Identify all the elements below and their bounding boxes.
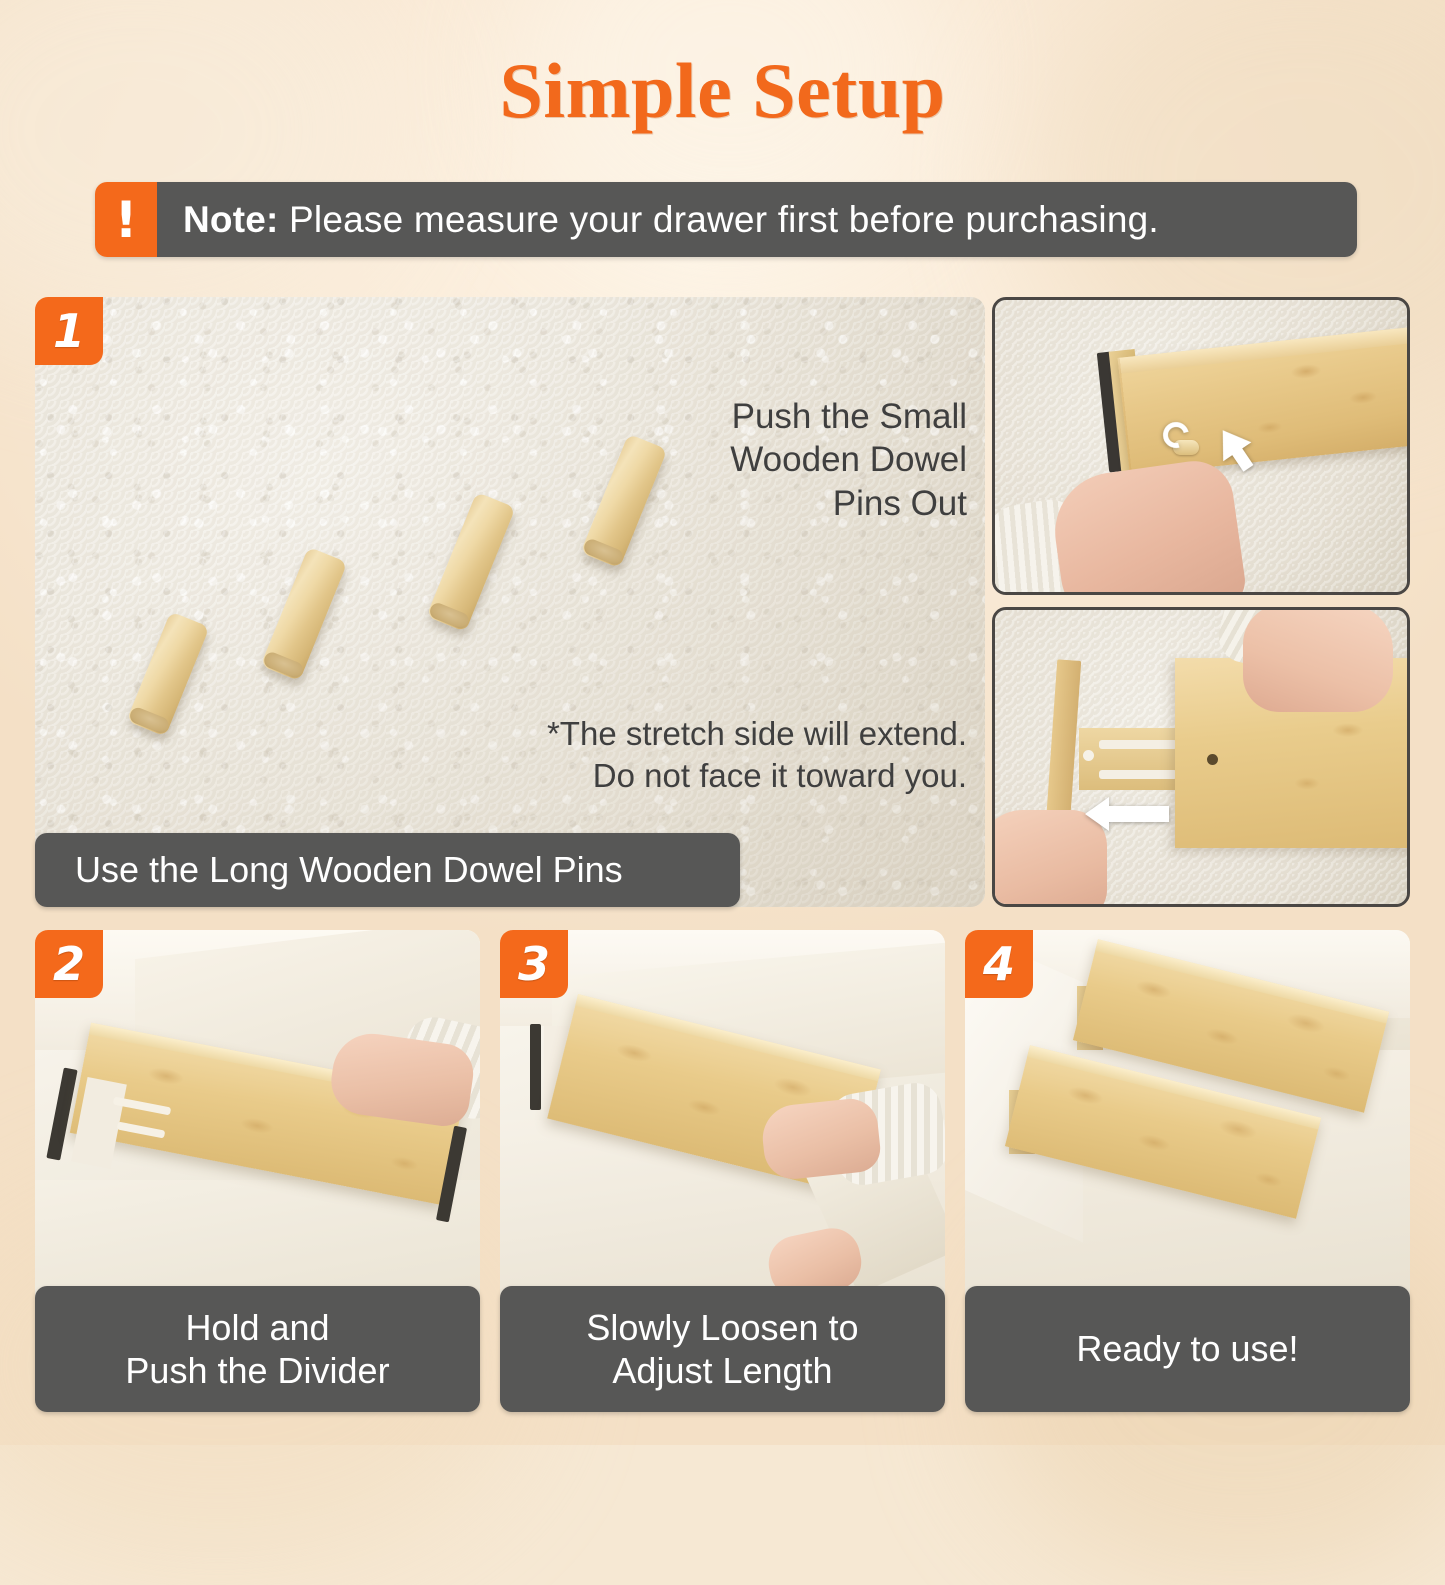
page-title: Simple Setup [0, 46, 1445, 136]
note-label: Note: [183, 199, 279, 240]
caption-line: Push the Divider [125, 1349, 389, 1392]
hand [1243, 607, 1393, 712]
annotation-line: *The stretch side will extend. [497, 713, 967, 755]
step-4-panel: 4 Ready to use! [965, 930, 1410, 1412]
rail-slot [1099, 740, 1177, 749]
note-banner: ! Note: Please measure your drawer first… [95, 182, 1357, 257]
board-hole [1207, 754, 1218, 765]
step-1-photo: Push the Small Wooden Dowel Pins Out *Th… [35, 297, 985, 907]
step-number-badge-3: 3 [500, 930, 568, 998]
rail-slot [1099, 770, 1177, 779]
caption-line: Adjust Length [612, 1349, 832, 1392]
note-message: Please measure your drawer first before … [279, 199, 1159, 240]
step-1-inset-b [992, 607, 1410, 907]
note-banner-body: Note: Please measure your drawer first b… [157, 182, 1357, 257]
exclamation-icon: ! [95, 182, 157, 257]
hand [759, 1096, 882, 1182]
divider-rail [1079, 728, 1189, 790]
annotation-line: Pins Out [547, 482, 967, 525]
step-1-annotation-bottom: *The stretch side will extend. Do not fa… [497, 713, 967, 797]
step-3-panel: 3 Slowly Loosen to Adjust Length [500, 930, 945, 1412]
caption-line: Hold and [185, 1306, 329, 1349]
step-2-panel: 2 Hold and Push the Divider [35, 930, 480, 1412]
left-arrow-icon [1107, 806, 1169, 822]
infographic-page: Simple Setup ! Note: Please measure your… [0, 0, 1445, 1445]
annotation-line: Do not face it toward you. [497, 755, 967, 797]
step-1-annotation-top: Push the Small Wooden Dowel Pins Out [547, 395, 967, 525]
caption-line: Ready to use! [1076, 1327, 1298, 1370]
step-number-badge-2: 2 [35, 930, 103, 998]
step-number-badge-4: 4 [965, 930, 1033, 998]
annotation-line: Wooden Dowel [547, 438, 967, 481]
step-4-caption: Ready to use! [965, 1286, 1410, 1412]
photo-shading [35, 297, 985, 907]
step-1-inset-a [992, 297, 1410, 595]
step-2-caption: Hold and Push the Divider [35, 1286, 480, 1412]
step-number-badge-1: 1 [35, 297, 103, 365]
caption-line: Slowly Loosen to [586, 1306, 858, 1349]
note-text: Note: Please measure your drawer first b… [183, 199, 1159, 241]
step-1-panel: Push the Small Wooden Dowel Pins Out *Th… [35, 297, 1410, 907]
step-3-caption: Slowly Loosen to Adjust Length [500, 1286, 945, 1412]
divider-black-edge [530, 1024, 541, 1110]
step-1-caption: Use the Long Wooden Dowel Pins [35, 833, 740, 907]
annotation-line: Push the Small [547, 395, 967, 438]
rail-dot [1083, 750, 1094, 761]
